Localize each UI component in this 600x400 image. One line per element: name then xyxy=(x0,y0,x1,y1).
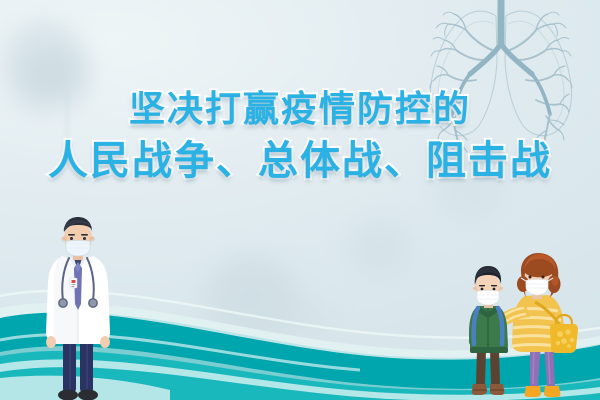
title-line-1: 坚决打赢疫情防控的 xyxy=(0,88,600,132)
boy-trouser-right xyxy=(490,350,500,384)
title-line-2: 人民战争、总体战、阻击战 xyxy=(0,136,600,186)
boy-trouser-left xyxy=(476,350,486,384)
poster-title: 坚决打赢疫情防控的 人民战争、总体战、阻击战 xyxy=(0,88,600,186)
doctor-hand-right xyxy=(100,336,110,348)
face-mask-icon xyxy=(526,280,548,296)
boy-figure xyxy=(469,266,508,395)
doctor-hand-left xyxy=(46,336,56,348)
face-mask-icon xyxy=(477,291,499,306)
doctor-shoe-left xyxy=(58,390,78,400)
doctor-figure xyxy=(36,212,120,400)
poster-canvas: 坚决打赢疫情防控的 人民战争、总体战、阻击战 xyxy=(0,0,600,400)
family-figures xyxy=(468,248,592,400)
mother-shoe-right xyxy=(544,386,560,397)
mother-shoe-left xyxy=(525,386,541,397)
doctor-shoe-right xyxy=(78,390,98,400)
